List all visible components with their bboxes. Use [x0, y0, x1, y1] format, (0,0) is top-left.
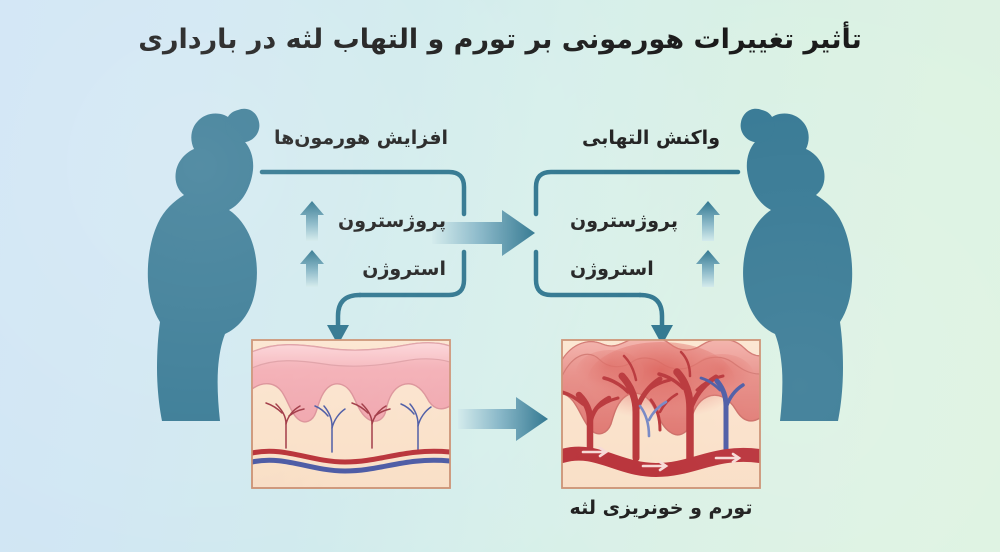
artwork-layer [0, 0, 1000, 552]
pregnant-woman-silhouette-left [148, 109, 260, 421]
arrow-up-icon-estrogen-right [696, 250, 720, 287]
left-down-arrow-icon [327, 295, 360, 345]
arrow-up-icon-progesterone-left [300, 201, 324, 241]
right-hormone-progesterone-label: پروژسترون [570, 210, 680, 232]
left-panel-heading: افزایش هورمون‌ها [266, 127, 456, 149]
right-panel-heading: واکنش التهابی [556, 127, 746, 149]
left-hormone-estrogen-label: استروژن [336, 258, 446, 280]
healthy-gum-tissue-diagram [252, 340, 450, 488]
center-arrow-right-icon [432, 210, 535, 256]
left-hormone-progesterone-label: پروژسترون [336, 210, 446, 232]
right-hormone-estrogen-label: استروژن [570, 258, 680, 280]
arrow-up-icon-progesterone-right [696, 201, 720, 241]
inflamed-gum-tissue-diagram [562, 337, 760, 488]
arrow-up-icon-estrogen-left [300, 250, 324, 287]
inflamed-tissue-caption: تورم و خونریزی لثه [561, 497, 761, 519]
bottom-arrow-right-icon [458, 397, 548, 441]
right-down-arrow-icon [640, 295, 673, 345]
infographic-canvas: تأثیر تغییرات هورمونی بر تورم و التهاب ل… [0, 0, 1000, 552]
